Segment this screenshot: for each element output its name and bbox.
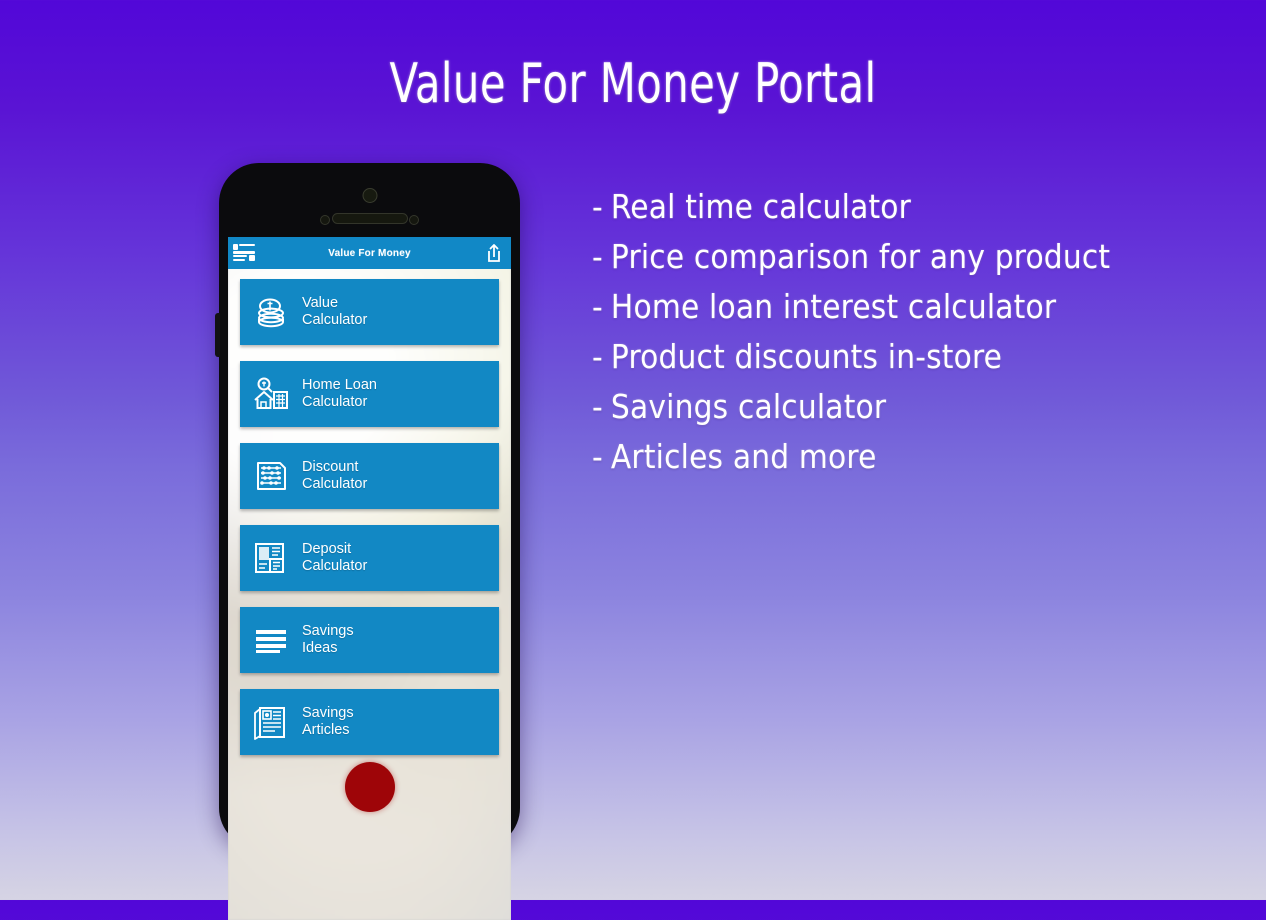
phone-screen: Value For Money [228,237,511,920]
house-search-icon [246,369,296,419]
menu-item-deposit-calculator[interactable]: Deposit Calculator [240,525,499,591]
list-item: -Home loan interest calculator [592,282,1212,332]
ambient-light-sensor-icon [409,215,419,225]
menu-item-label: Deposit Calculator [296,541,367,575]
menu-item-label: Value Calculator [296,295,367,329]
newspaper-icon [246,697,296,747]
proximity-sensor-icon [320,215,330,225]
list-item: -Savings calculator [592,382,1212,432]
app-bar: Value For Money [228,237,511,269]
coin-stack-icon [246,287,296,337]
app-menu-list: Value Calculator Home Loan [228,269,511,920]
bullet-dash: - [592,382,603,432]
menu-item-savings-articles[interactable]: Savings Articles [240,689,499,755]
menu-item-home-loan-calculator[interactable]: Home Loan Calculator [240,361,499,427]
list-item: -Real time calculator [592,182,1212,232]
bullet-dash: - [592,282,603,332]
bullet-dash: - [592,182,603,232]
feature-label: Articles and more [611,437,877,476]
front-camera-icon [362,188,377,203]
home-button[interactable] [345,762,395,812]
feature-label: Price comparison for any product [611,237,1110,276]
earpiece-speaker-icon [332,213,408,224]
menu-item-label: Discount Calculator [296,459,367,493]
menu-item-label: Savings Ideas [296,623,354,657]
app-bar-title: Value For Money [257,248,482,259]
bullet-dash: - [592,332,603,382]
app-logo-icon[interactable] [233,242,257,264]
list-item: -Price comparison for any product [592,232,1212,282]
feature-label: Product discounts in-store [611,337,1002,376]
page-title: Value For Money Portal [89,52,1178,115]
feature-label: Real time calculator [611,187,911,226]
abacus-icon [246,451,296,501]
menu-item-discount-calculator[interactable]: Discount Calculator [240,443,499,509]
feature-label: Home loan interest calculator [611,287,1056,326]
deposit-slip-icon [246,533,296,583]
phone-mockup: Value For Money [219,163,520,848]
menu-item-value-calculator[interactable]: Value Calculator [240,279,499,345]
list-item: -Articles and more [592,432,1212,482]
bullet-dash: - [592,232,603,282]
menu-item-label: Savings Articles [296,705,354,739]
list-lines-icon [246,615,296,665]
share-icon[interactable] [482,241,506,265]
menu-item-savings-ideas[interactable]: Savings Ideas [240,607,499,673]
feature-label: Savings calculator [611,387,886,426]
list-item: -Product discounts in-store [592,332,1212,382]
menu-item-label: Home Loan Calculator [296,377,377,411]
volume-button[interactable] [215,313,220,357]
feature-list: -Real time calculator -Price comparison … [592,182,1212,482]
bullet-dash: - [592,432,603,482]
